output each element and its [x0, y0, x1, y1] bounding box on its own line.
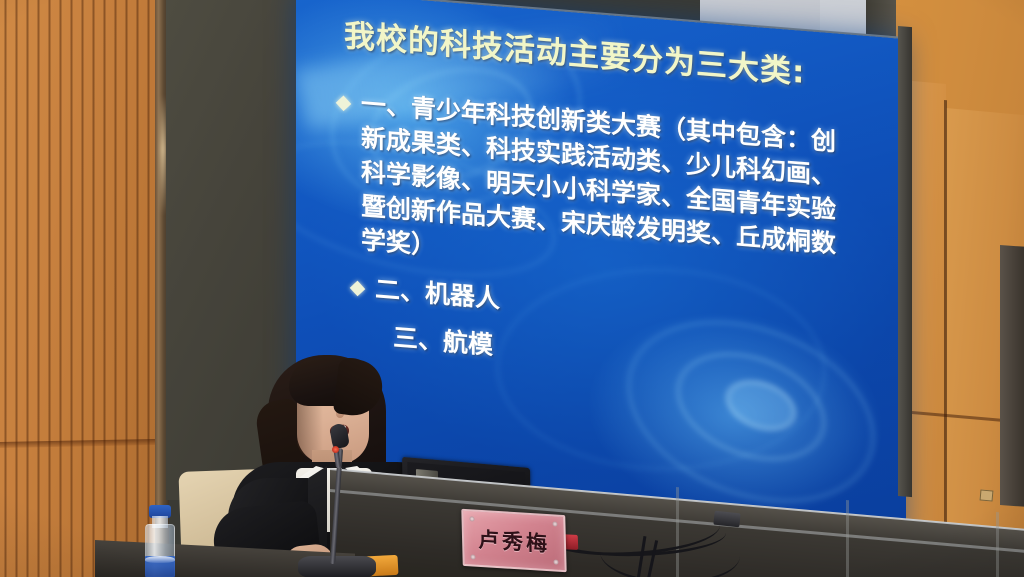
nameplate-screw: [553, 559, 558, 564]
desk-panel-seam: [846, 500, 849, 577]
nameplate-screw: [470, 554, 475, 559]
bottle-label-wave: [145, 556, 175, 563]
desk-panel-seam: [996, 512, 999, 577]
photo-scene: 我校的科技活动主要分为三大类: 一、青少年科技创新类大赛（其中包含：创 新成果类…: [0, 0, 1024, 577]
nameplate-screw: [469, 516, 474, 521]
microphone-base: [298, 556, 376, 577]
nameplate-name: 卢秀梅: [478, 523, 551, 557]
nameplate-screw: [552, 521, 557, 526]
cable-connector: [713, 511, 740, 528]
microphone-led-indicator: [332, 446, 339, 453]
nameplate: 卢秀梅: [461, 509, 566, 572]
